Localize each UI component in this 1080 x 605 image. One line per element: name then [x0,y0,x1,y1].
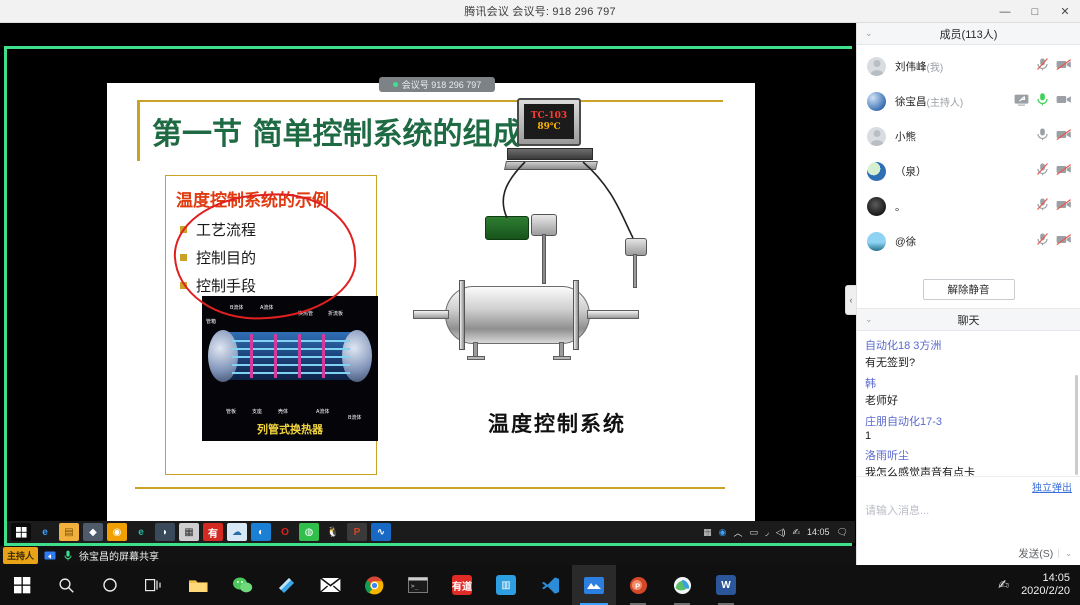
participant-status-icons [1014,92,1072,111]
hx-baffle [250,334,253,378]
clock-time: 14:05 [1021,572,1070,585]
camera-off-icon[interactable] [1056,233,1072,251]
participant-row[interactable]: 徐宝昌 (主持人) [857,84,1080,119]
app-gray-icon[interactable]: ◆ [83,523,103,541]
app-teal-icon: ▥ [496,575,516,595]
microphone-icon[interactable] [1036,127,1049,146]
controller-screen: TC-103 89℃ [524,104,574,139]
share-screen-icon [43,550,56,562]
unmute-button[interactable]: 解除静音 [923,279,1015,300]
hx-label: 管板 [226,408,236,415]
outlet-pipe [587,310,639,319]
slide-bottom-rule [135,487,725,489]
chat-popout-row: 独立弹出 [857,476,1080,497]
mute-button-row: 解除静音 [857,273,1080,309]
participant-status-icons [1036,197,1072,216]
chat-message: 自动化18 3方洲 有无签到? [865,337,1072,370]
chat-sender: 自动化18 3方洲 [865,337,1072,353]
camera-off-icon[interactable] [1056,93,1072,111]
side-panel: ⌄ 成员(113人) 刘伟峰 (我) [856,23,1080,565]
camera-off-icon[interactable] [1056,128,1072,146]
battery-icon[interactable]: ▭ [750,527,759,538]
chat-header-label: 聊天 [958,312,980,328]
remote-taskbar-clock[interactable]: 14:05 [807,527,830,537]
participant-row[interactable]: 。 [857,189,1080,224]
hx-label: 管箱 [206,318,216,325]
grid-icon[interactable]: ▦ [703,527,712,538]
hx-label: A流体 [316,408,329,415]
app-red-button[interactable]: 有道 [440,565,484,605]
app-red-icon: 有道 [452,575,472,595]
chat-text: 1 [865,430,1072,442]
svg-text:P: P [635,581,640,590]
chat-message: 庄朋自动化17-3 1 [865,413,1072,442]
participant-status-icons [1036,232,1072,251]
taskbar-clock[interactable]: 14:05 2020/2/20 [1021,572,1070,598]
host-badge: 主持人 [3,547,38,564]
bullet-square-icon [180,282,187,289]
presenter-status-bar: 主持人 徐宝昌的屏幕共享 [0,546,856,565]
clock-date: 2020/2/20 [1021,585,1070,598]
meeting-id-text: 会议号 918 296 797 [402,78,482,91]
vessel-foot [553,356,571,360]
app-blue-icon[interactable]: ☁ [227,523,247,541]
bullet-item: 控制目的 [180,247,368,268]
valve-positioner [485,216,529,240]
tencent-meeting-window: 腾讯会议 会议号: 918 296 797 — □ ✕ 会议号 918 296 … [0,0,1080,605]
hx-label: B流体 [230,304,243,311]
controller-value: 89℃ [537,122,560,132]
vessel-foot [467,356,485,360]
chat-send-row: 发送(S) ⌄ [857,541,1080,565]
participants-header-label: 成员(113人) [940,26,998,42]
calculator-icon[interactable]: ▦ [179,523,199,541]
start-button[interactable] [0,565,44,605]
controller-keyboard [504,161,598,170]
start-icon[interactable] [11,523,31,541]
microphone-muted-icon[interactable] [1036,197,1049,216]
input-method-icon[interactable]: ✍ [792,527,800,538]
word-button[interactable]: W [704,565,748,605]
slide-box-heading: 温度控制系统的示例 [176,186,368,211]
send-button[interactable]: 发送(S) [1018,546,1053,561]
participant-status-icons [1036,162,1072,181]
app-green-button[interactable] [660,565,704,605]
chevron-up-icon[interactable]: ︿ [734,526,743,539]
screen-share-stage[interactable]: 会议号 918 296 797 第一节 简单控制系统的组成 温度控制系统的示例 … [0,23,856,565]
chat-message-list[interactable]: 自动化18 3方洲 有无签到? 韩 老师好 庄朋自动化17-3 1 洛雨听尘 我… [857,331,1080,476]
controller-cpu [507,148,593,160]
temperature-control-diagram: TC-103 89℃ [407,88,707,508]
maximize-button[interactable]: □ [1020,0,1050,23]
camera-off-icon[interactable] [1056,163,1072,181]
participant-row[interactable]: 小熊 [857,119,1080,154]
close-button[interactable]: ✕ [1050,0,1080,23]
participant-status-icons [1036,127,1072,146]
controller-tag: TC-103 [531,111,567,121]
presenter-name: 徐宝昌的屏幕共享 [79,548,159,563]
system-tray: ✍ 14:05 2020/2/20 [998,572,1080,598]
chat-header[interactable]: ⌄ 聊天 [857,309,1080,331]
input-method-icon[interactable]: ✍ [998,577,1009,593]
participant-name: 。 [895,199,906,214]
microphone-muted-icon[interactable] [1036,232,1049,251]
slide-bullet-box: 温度控制系统的示例 工艺流程 控制目的 控制手段 [165,175,377,475]
avatar [867,92,886,111]
camera-off-icon[interactable] [1056,198,1072,216]
bullet-square-icon [180,226,187,233]
chat-message: 洛雨听尘 我怎么感觉声音有点卡 [865,447,1072,476]
bullet-item: 控制手段 [180,275,368,296]
avatar [867,127,886,146]
microphone-active-icon[interactable] [1036,92,1049,111]
wifi-icon[interactable]: ◞ [765,527,769,538]
participant-row[interactable]: @徐 [857,224,1080,259]
svg-text:>_: >_ [411,583,419,590]
chat-sender: 韩 [865,375,1072,391]
heat-exchanger-caption: 列管式换热器 [202,421,378,437]
participant-name: 徐宝昌 [895,94,927,109]
minimize-button[interactable]: — [990,0,1020,23]
wechat-green-icon[interactable]: ◍ [299,523,319,541]
word-icon: W [716,575,736,595]
hx-baffle [322,334,325,378]
avatar [867,57,886,76]
app-dark-icon[interactable]: ◗ [155,523,175,541]
hx-label: A流体 [260,304,273,311]
remote-desktop[interactable]: 会议号 918 296 797 第一节 简单控制系统的组成 温度控制系统的示例 … [7,49,855,543]
chrome-button[interactable] [352,565,396,605]
participant-row[interactable]: 刘伟峰 (我) [857,49,1080,84]
bullet-square-icon [180,254,187,261]
valve-stem [542,234,546,284]
remote-taskbar-icons: e ▤ ◆ ◉ e ◗ ▦ 有 ☁ ◐ O ◍ 🐧 P ∿ [7,523,391,541]
task-view-button[interactable] [132,565,176,605]
hx-label: 支座 [252,408,262,415]
ie-icon[interactable]: e [131,523,151,541]
participants-header[interactable]: ⌄ 成员(113人) [857,23,1080,45]
chat-area: 自动化18 3方洲 有无签到? 韩 老师好 庄朋自动化17-3 1 洛雨听尘 我… [857,331,1080,565]
inlet-pipe [413,310,449,319]
volume-icon[interactable]: ◁) [776,527,786,538]
chevron-down-icon[interactable]: ⌄ [865,28,873,39]
vscode-button[interactable] [528,565,572,605]
app-blue-button[interactable] [264,565,308,605]
tencent-meeting-icon[interactable]: ∿ [371,523,391,541]
avatar [867,232,886,251]
powerpoint-slide: 会议号 918 296 797 第一节 简单控制系统的组成 温度控制系统的示例 … [107,83,755,533]
heat-exchanger-image: B流体 A流体 换热管 折流板 管箱 管板 支座 壳体 A流体 B流体 列管式换… [202,296,378,441]
meeting-id-pill: 会议号 918 296 797 [379,77,495,92]
notification-icon[interactable]: 🗨 [837,527,848,538]
windows-taskbar[interactable]: >_ 有道 ▥ P W ✍ 14:05 2020/2/20 [0,565,1080,605]
participant-tag: (主持人) [927,94,964,109]
search-button[interactable] [44,565,88,605]
wechat-button[interactable] [220,565,264,605]
hx-label: 壳体 [278,408,288,415]
participant-name: 刘伟峰 [895,59,927,74]
microphone-muted-icon[interactable] [1036,162,1049,181]
temperature-control-caption: 温度控制系统 [407,408,707,438]
cloud-icon[interactable]: ◐ [251,523,271,541]
window-titlebar: 腾讯会议 会议号: 918 296 797 — □ ✕ [0,0,1080,23]
vessel-flange [459,280,465,350]
avatar [867,197,886,216]
participant-row[interactable]: （泉） [857,154,1080,189]
remote-taskbar[interactable]: e ▤ ◆ ◉ e ◗ ▦ 有 ☁ ◐ O ◍ 🐧 P ∿ [7,521,855,543]
sync-icon[interactable]: ◉ [719,527,727,538]
hx-label: 换热管 [298,310,313,317]
participant-name: （泉） [895,164,927,179]
app-red-icon[interactable]: 有 [203,523,223,541]
terminal-button[interactable]: >_ [396,565,440,605]
chat-text: 我怎么感觉声音有点卡 [865,464,1072,476]
participant-name: @徐 [895,234,916,249]
chat-scrollbar[interactable] [1075,375,1078,475]
hx-label: B流体 [348,414,361,421]
remote-system-tray: ▦ ◉ ︿ ▭ ◞ ◁) ✍ 14:05 🗨 [703,526,855,539]
chat-sender: 洛雨听尘 [865,447,1072,463]
screen-share-frame: 会议号 918 296 797 第一节 简单控制系统的组成 温度控制系统的示例 … [4,46,852,546]
collapse-panel-button[interactable]: ‹ [845,285,856,315]
hx-baffle [298,334,301,378]
participant-status-icons [1036,57,1072,76]
chevron-down-icon[interactable]: ⌄ [865,314,873,325]
heat-exchanger-vessel [445,286,590,344]
bullet-label: 工艺流程 [196,219,256,240]
participants-list[interactable]: 刘伟峰 (我) 徐宝昌 (主持人) [857,45,1080,273]
powerpoint-button[interactable]: P [616,565,660,605]
qq-icon[interactable]: 🐧 [323,523,343,541]
chat-input[interactable]: 请输入消息... [857,497,1080,541]
hx-label: 折流板 [328,310,343,317]
bullet-item: 工艺流程 [180,219,368,240]
hx-baffle [274,334,277,378]
camera-off-icon[interactable] [1056,58,1072,76]
bullet-label: 控制目的 [196,247,256,268]
window-controls: — □ ✕ [990,0,1080,23]
participant-tag: (我) [927,59,944,74]
microphone-icon [61,550,74,562]
edge-icon[interactable]: e [35,523,55,541]
popout-chat-link[interactable]: 独立弹出 [1032,483,1072,494]
send-options-caret-icon[interactable]: ⌄ [1058,549,1072,558]
powerpoint-icon[interactable]: P [347,523,367,541]
controller-monitor: TC-103 89℃ [517,98,581,146]
firefox-icon[interactable]: ◉ [107,523,127,541]
window-title: 腾讯会议 会议号: 918 296 797 [464,3,616,19]
sensor-stem [633,254,637,288]
chat-text: 有无签到? [865,354,1072,370]
recording-dot-icon [393,82,398,87]
mail-button[interactable] [308,565,352,605]
control-valve [531,214,557,236]
tencent-meeting-button[interactable] [572,565,616,605]
app-teal-button[interactable]: ▥ [484,565,528,605]
avatar [867,162,886,181]
file-explorer-icon[interactable]: ▤ [59,523,79,541]
vessel-flange [573,280,579,350]
chat-text: 老师好 [865,392,1072,408]
opera-icon[interactable]: O [275,523,295,541]
screen-share-icon[interactable] [1014,93,1029,111]
cortana-icon[interactable] [88,565,132,605]
participant-name: 小熊 [895,129,916,144]
microphone-muted-icon[interactable] [1036,57,1049,76]
chat-sender: 庄朋自动化17-3 [865,413,1072,429]
chat-message: 韩 老师好 [865,375,1072,408]
bullet-label: 控制手段 [196,275,256,296]
file-explorer-button[interactable] [176,565,220,605]
